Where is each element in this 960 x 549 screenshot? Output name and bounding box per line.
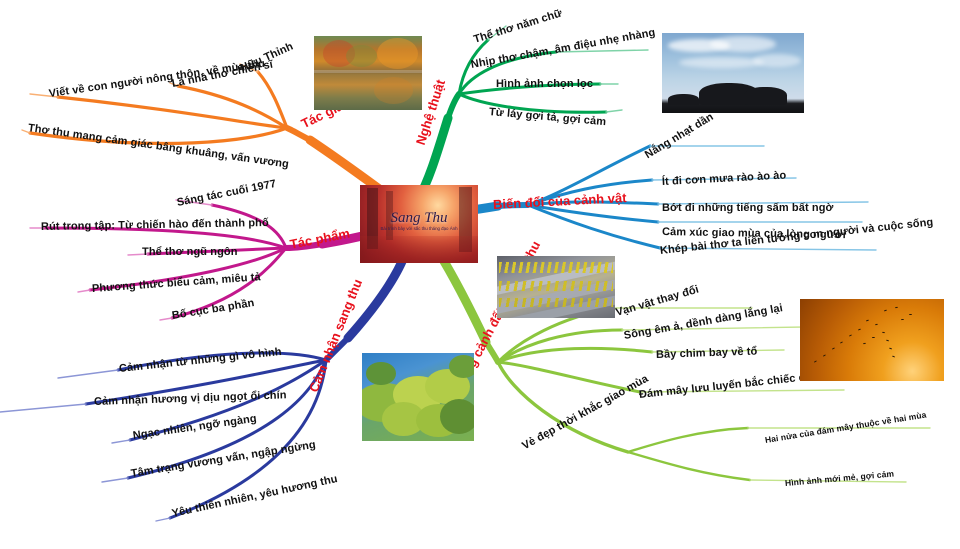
item-label[interactable]: Bớt đi những tiếng sấm bất ngờ [662, 202, 833, 214]
photo-orange-sky-birds-flock [800, 299, 944, 381]
center-topic-image[interactable]: Sang Thu Bài trình bày với sắc thu tháng… [360, 185, 478, 263]
photo-autumn-lake-reflection [314, 36, 422, 110]
photo-yellow-leaves-benches [497, 256, 615, 318]
photo-blue-sky-clouds-trees [662, 33, 804, 113]
photo-green-guava-fruit [362, 353, 474, 441]
center-title: Sang Thu [360, 210, 478, 227]
item-label[interactable]: Thể thơ ngũ ngôn [142, 246, 238, 258]
item-label[interactable]: Hình ảnh chọn lọc [496, 78, 593, 90]
mindmap-canvas: Tác giả Tác phẩm Cảm nhận sang thu Nghệ … [0, 0, 960, 549]
center-subtitle: Bài trình bày với sắc thu tháng đạo Ánh [360, 226, 478, 231]
